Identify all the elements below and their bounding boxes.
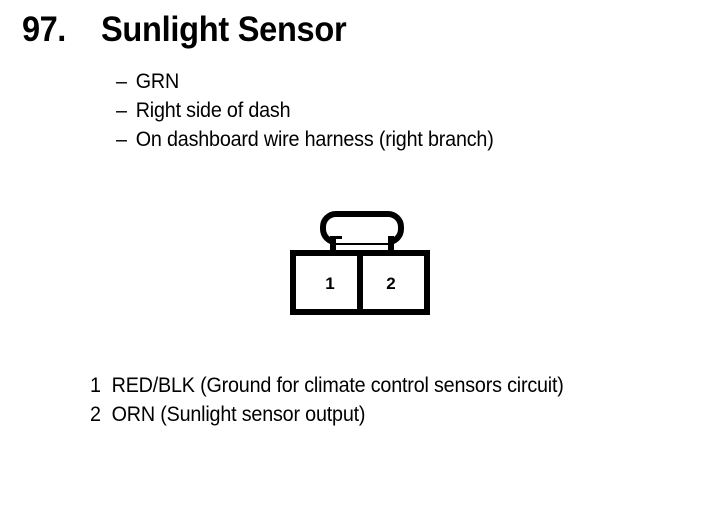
dash-bullet-icon: –	[116, 125, 136, 154]
component-details-list: – GRN – Right side of dash – On dashboar…	[116, 67, 518, 154]
connector-diagram: 1 2	[285, 203, 435, 323]
pin-number-1: 1	[325, 274, 334, 293]
legend-row: 2 ORN (Sunlight sensor output)	[90, 400, 564, 429]
connector-housing	[293, 253, 427, 312]
component-title: Sunlight Sensor	[101, 12, 346, 47]
legend-pin-description: ORN (Sunlight sensor output)	[112, 400, 366, 429]
list-item: – GRN	[116, 67, 494, 96]
list-item: – Right side of dash	[116, 96, 494, 125]
list-item-label: Right side of dash	[136, 96, 291, 125]
dash-bullet-icon: –	[116, 67, 136, 96]
list-item: – On dashboard wire harness (right branc…	[116, 125, 494, 154]
legend-pin-number: 1	[90, 371, 112, 400]
pin-legend: 1 RED/BLK (Ground for climate control se…	[90, 371, 594, 429]
dash-bullet-icon: –	[116, 96, 136, 125]
pin-number-2: 2	[386, 274, 395, 293]
legend-row: 1 RED/BLK (Ground for climate control se…	[90, 371, 564, 400]
legend-pin-number: 2	[90, 400, 112, 429]
page-title: 97. Sunlight Sensor	[22, 12, 365, 47]
diagram-page: 97. Sunlight Sensor – GRN – Right side o…	[0, 0, 704, 528]
item-number: 97.	[22, 12, 66, 47]
legend-pin-description: RED/BLK (Ground for climate control sens…	[112, 371, 564, 400]
list-item-label: On dashboard wire harness (right branch)	[136, 125, 494, 154]
list-item-label: GRN	[136, 67, 179, 96]
